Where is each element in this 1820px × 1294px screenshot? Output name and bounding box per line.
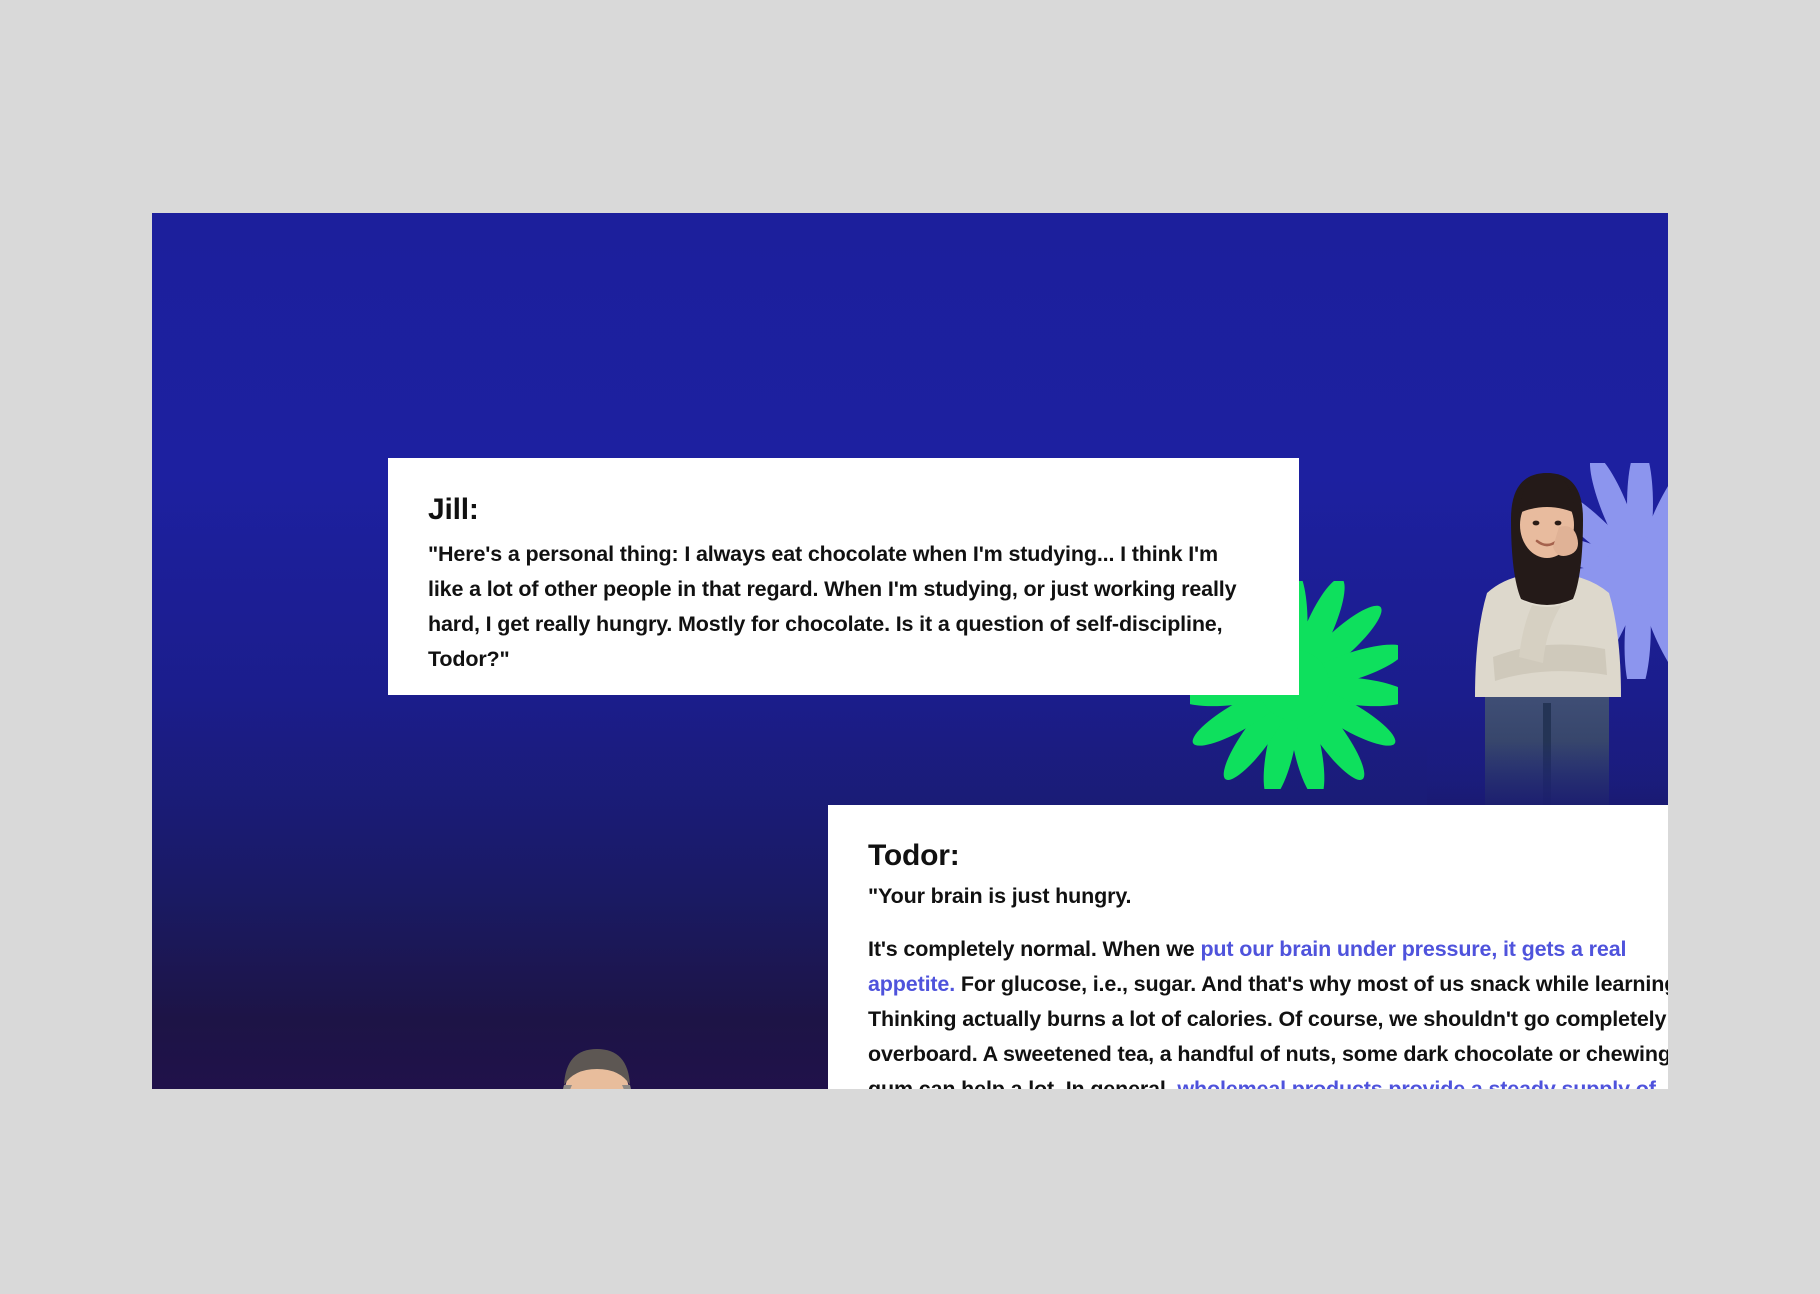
slide-panel: Jill: "Here's a personal thing: I always… (152, 213, 1668, 1089)
todor-lead-text: "Your brain is just hungry. (868, 879, 1668, 914)
screenshot-stage: Jill: "Here's a personal thing: I always… (0, 0, 1820, 1294)
woman-photo (1427, 461, 1667, 809)
jill-speaker-label: Jill: (428, 493, 1259, 527)
jill-quote-card: Jill: "Here's a personal thing: I always… (388, 458, 1299, 695)
man-photo (492, 1041, 702, 1089)
todor-quote-card: Todor: "Your brain is just hungry. It's … (828, 805, 1668, 1089)
todor-body-text: It's completely normal. When we put our … (868, 932, 1668, 1089)
jill-quote-text: "Here's a personal thing: I always eat c… (428, 537, 1259, 677)
todor-body-part2: For glucose, i.e., sugar. And that's why… (868, 972, 1668, 1089)
todor-body-part1: It's completely normal. When we (868, 937, 1200, 961)
todor-speaker-label: Todor: (868, 839, 1668, 873)
